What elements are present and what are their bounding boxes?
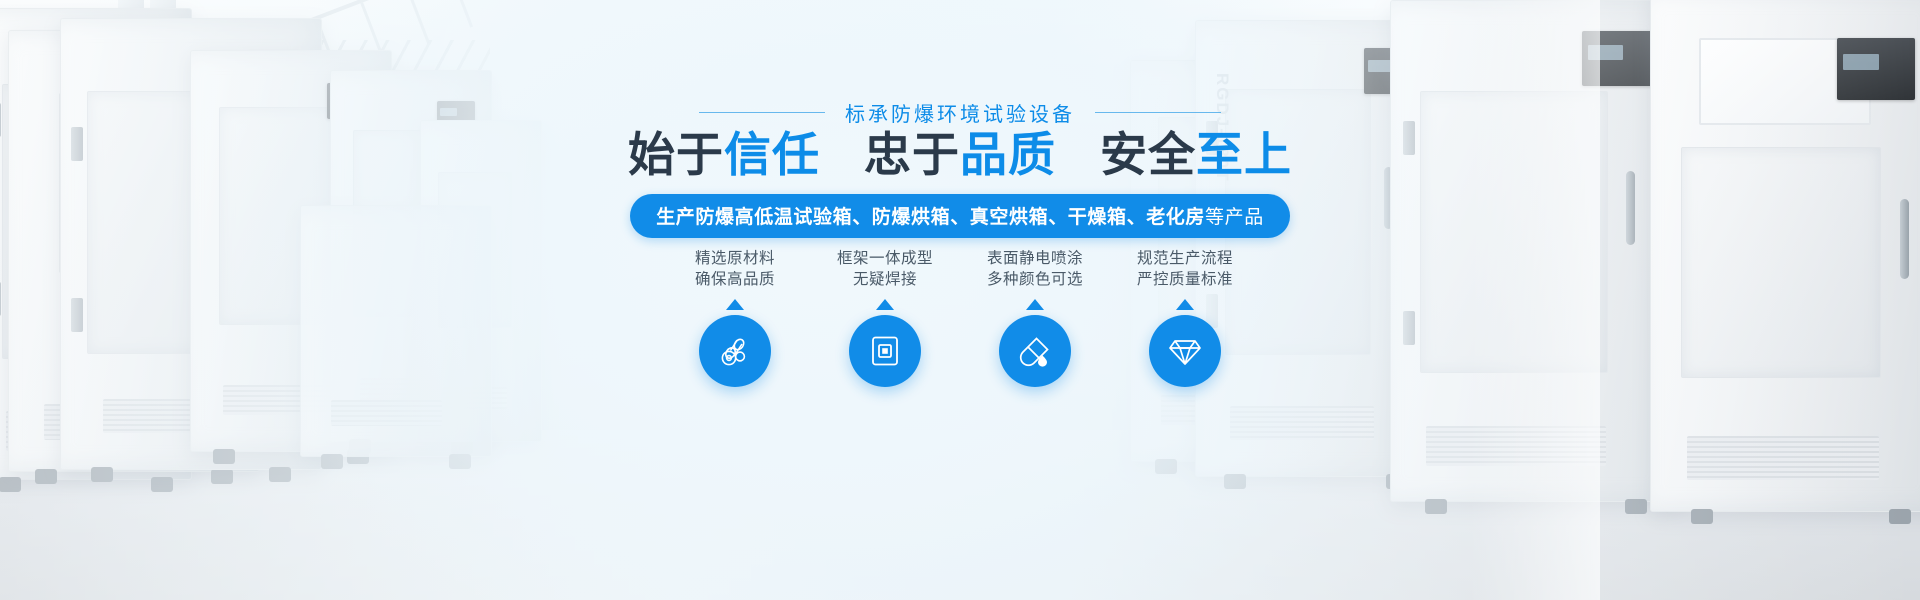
hero-banner: RGDJ-100T RGD-100 bbox=[0, 0, 1920, 600]
subtitle-strong: 生产防爆高低温试验箱、防爆烘箱、真空烘箱、干燥箱、老化房 bbox=[656, 207, 1205, 228]
feature-item-2[interactable]: 框架一体成型 无疑焊接 bbox=[832, 248, 938, 387]
eyebrow-rule-left bbox=[699, 112, 825, 113]
headline-3-blue: 至上 bbox=[1196, 128, 1292, 181]
headline-2-blue: 品质 bbox=[960, 128, 1056, 181]
subtitle-row: 生产防爆高低温试验箱、防爆烘箱、真空烘箱、干燥箱、老化房等产品 bbox=[0, 194, 1920, 238]
eyebrow-rule-right bbox=[1095, 112, 1221, 113]
feature-2-pointer-triangle bbox=[876, 299, 894, 310]
material-rolls-icon bbox=[716, 332, 754, 370]
subtitle-light: 等产品 bbox=[1205, 207, 1264, 228]
eyebrow-row: 标承防爆环境试验设备 bbox=[0, 98, 1920, 127]
feature-3-line-2: 多种颜色可选 bbox=[987, 269, 1083, 290]
feature-item-4[interactable]: 规范生产流程 严控质量标准 bbox=[1132, 248, 1238, 387]
feature-4-pointer-triangle bbox=[1176, 299, 1194, 310]
diamond-icon bbox=[1166, 332, 1204, 370]
headline-2-dark: 忠于 bbox=[864, 128, 960, 181]
feature-1-line-2: 确保高品质 bbox=[695, 269, 775, 290]
headline-group-1: 始于信任 bbox=[628, 128, 820, 182]
feature-4-icon-circle[interactable] bbox=[1149, 315, 1221, 387]
feature-4-line-1: 规范生产流程 bbox=[1137, 248, 1233, 269]
spray-paint-icon bbox=[1016, 332, 1054, 370]
framed-square-icon bbox=[867, 333, 903, 369]
subtitle-pill: 生产防爆高低温试验箱、防爆烘箱、真空烘箱、干燥箱、老化房等产品 bbox=[630, 194, 1290, 238]
eyebrow-text: 标承防爆环境试验设备 bbox=[845, 98, 1075, 127]
headline-group-2: 忠于品质 bbox=[864, 128, 1056, 182]
feature-2-line-2: 无疑焊接 bbox=[853, 269, 917, 290]
feature-3-pointer-triangle bbox=[1026, 299, 1044, 310]
feature-1-pointer-triangle bbox=[726, 299, 744, 310]
feature-3-line-1: 表面静电喷涂 bbox=[987, 248, 1083, 269]
feature-item-3[interactable]: 表面静电喷涂 多种颜色可选 bbox=[982, 248, 1088, 387]
headline-1-dark: 始于 bbox=[628, 128, 724, 181]
feature-2-line-1: 框架一体成型 bbox=[837, 248, 933, 269]
headline-1-blue: 信任 bbox=[724, 128, 820, 181]
feature-1-line-1: 精选原材料 bbox=[695, 248, 775, 269]
headline-row: 始于信任 忠于品质 安全至上 bbox=[0, 128, 1920, 182]
feature-4-line-2: 严控质量标准 bbox=[1137, 269, 1233, 290]
feature-2-icon-circle[interactable] bbox=[849, 315, 921, 387]
headline-group-3: 安全至上 bbox=[1100, 128, 1292, 182]
feature-row: 精选原材料 确保高品质 bbox=[0, 248, 1920, 387]
feature-3-icon-circle[interactable] bbox=[999, 315, 1071, 387]
banner-content: 标承防爆环境试验设备 始于信任 忠于品质 安全至上 生产防爆高低温试验箱、防爆烘… bbox=[0, 0, 1920, 600]
feature-1-icon-circle[interactable] bbox=[699, 315, 771, 387]
feature-item-1[interactable]: 精选原材料 确保高品质 bbox=[682, 248, 788, 387]
headline-3-dark: 安全 bbox=[1100, 128, 1196, 181]
